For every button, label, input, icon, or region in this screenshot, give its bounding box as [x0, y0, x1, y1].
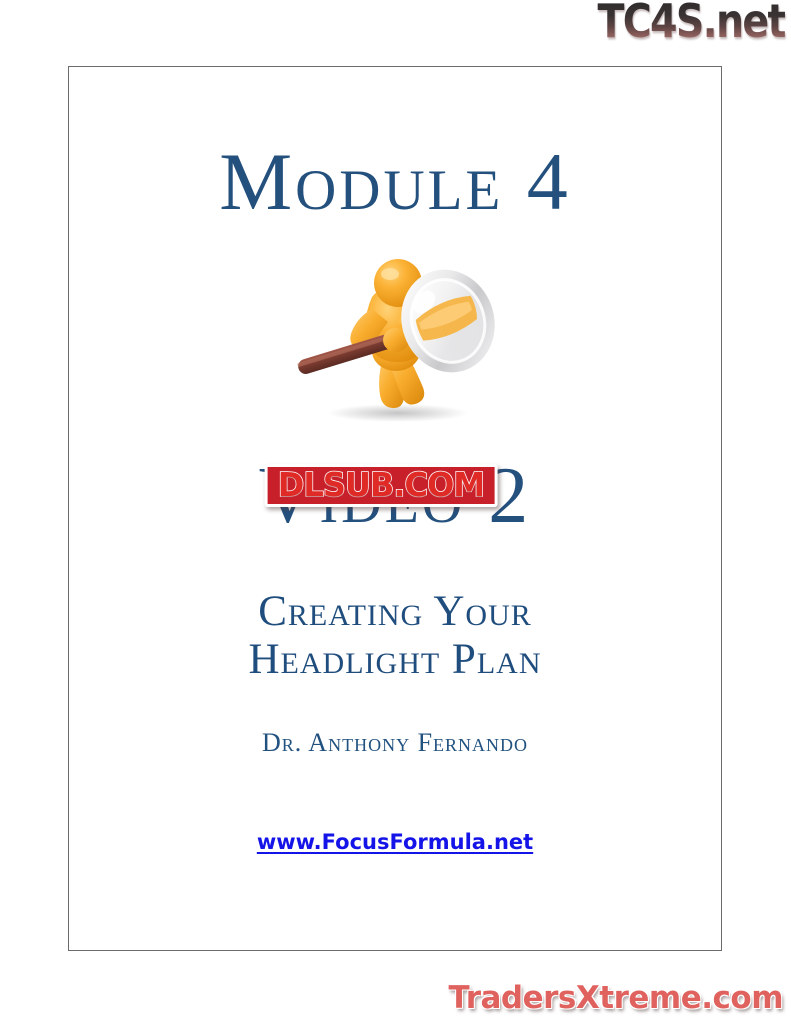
watermark-dlsub-badge: DLSUB.COM — [265, 464, 498, 507]
video-title-block: Video 2 DLSUB.COM — [69, 456, 721, 552]
watermark-tradersxtreme: TradersXtreme.com — [448, 983, 783, 1014]
page-subtitle-line1: Creating Your — [249, 588, 542, 636]
watermark-dlsub-label: DLSUB.COM — [278, 468, 484, 501]
page-subtitle: Creating Your Headlight Plan — [249, 588, 542, 684]
watermark-tc4s: TC4S.net — [598, 0, 785, 44]
author-name: Dr. Anthony Fernando — [262, 728, 528, 758]
magnifying-glass-figure-icon — [280, 247, 510, 422]
website-link[interactable]: www.FocusFormula.net — [257, 830, 533, 854]
document-page: Module 4 — [68, 66, 722, 951]
page-title-module: Module 4 — [219, 143, 571, 221]
page-subtitle-line2: Headlight Plan — [249, 636, 542, 684]
